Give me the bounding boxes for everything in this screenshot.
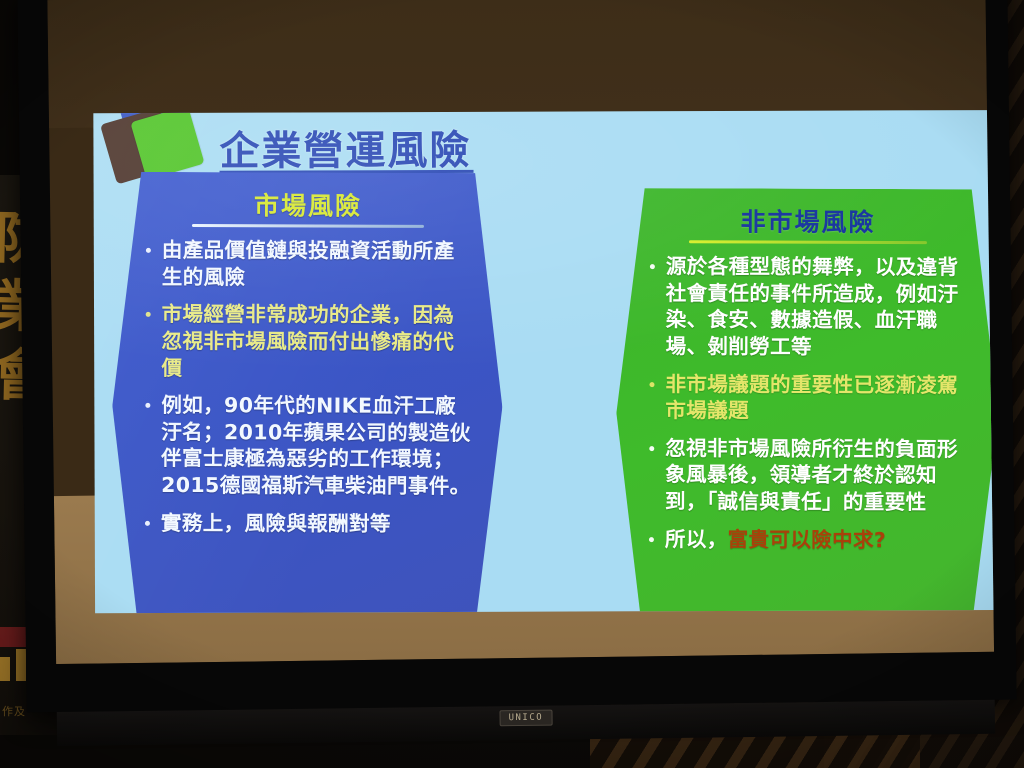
list-item: 所以，富貴可以險中求? [646, 526, 968, 554]
panel-market-risk-heading: 市場風險 [143, 186, 473, 223]
projector-screen-frame: 企業營運風險 市場風險 由產品價值鏈與投融資活動所產生的風險 市場經營非常成功的… [17, 0, 1016, 712]
panel-market-risk-heading-underline [192, 224, 424, 228]
list-item-prefix: 所以， [665, 527, 728, 551]
panel-non-market-risk-bullet-list: 源於各種型態的舞弊，以及違背社會責任的事件所造成，例如汙染、食安、數據造假、血汗… [646, 253, 969, 554]
list-item: 實務上，風險與報酬對等 [142, 510, 472, 538]
list-item: 忽視非市場風險所衍生的負面形象風暴後，領導者才終於認知到，「誠信與責任」的重要性 [646, 435, 968, 516]
panel-market-risk: 市場風險 由產品價值鏈與投融資活動所產生的風險 市場經營非常成功的企業，因為忽視… [112, 172, 504, 613]
projector-screen-surface: 企業營運風險 市場風險 由產品價值鏈與投融資活動所產生的風險 市場經營非常成功的… [47, 0, 994, 664]
panel-non-market-risk: 非市場風險 源於各種型態的舞弊，以及違背社會責任的事件所造成，例如汙染、食安、數… [616, 188, 994, 613]
panel-non-market-risk-heading: 非市場風險 [647, 202, 969, 239]
list-item: 源於各種型態的舞弊，以及違背社會責任的事件所造成，例如汙染、食安、數據造假、血汗… [647, 253, 969, 361]
screen-unused-top [47, 0, 987, 128]
screen-brand-label: UNICO [499, 710, 552, 727]
banner-footer-text: 作及 [2, 703, 26, 719]
list-item-highlight: 富貴可以險中求? [728, 527, 887, 552]
list-item: 例如，90年代的NIKE血汗工廠汙名；2010年蘋果公司的製造伙伴富士康極為惡劣… [142, 392, 472, 500]
panel-non-market-risk-heading-underline [689, 240, 927, 244]
list-item: 非市場議題的重要性已逐漸凌駕市場議題 [646, 371, 968, 425]
list-item: 市場經營非常成功的企業，因為忽視非市場風險而付出慘痛的代價 [142, 301, 472, 382]
room-background: 防 業 會 作及 企業營運風險 市場風險 [0, 0, 1024, 768]
presentation-slide: 企業營運風險 市場風險 由產品價值鏈與投融資活動所產生的風險 市場經營非常成功的… [93, 110, 994, 613]
slide-title: 企業營運風險 [219, 118, 471, 177]
panel-market-risk-bullet-list: 由產品價值鏈與投融資活動所產生的風險 市場經營非常成功的企業，因為忽視非市場風險… [142, 237, 473, 538]
list-item: 由產品價值鏈與投融資活動所產生的風險 [143, 237, 473, 291]
